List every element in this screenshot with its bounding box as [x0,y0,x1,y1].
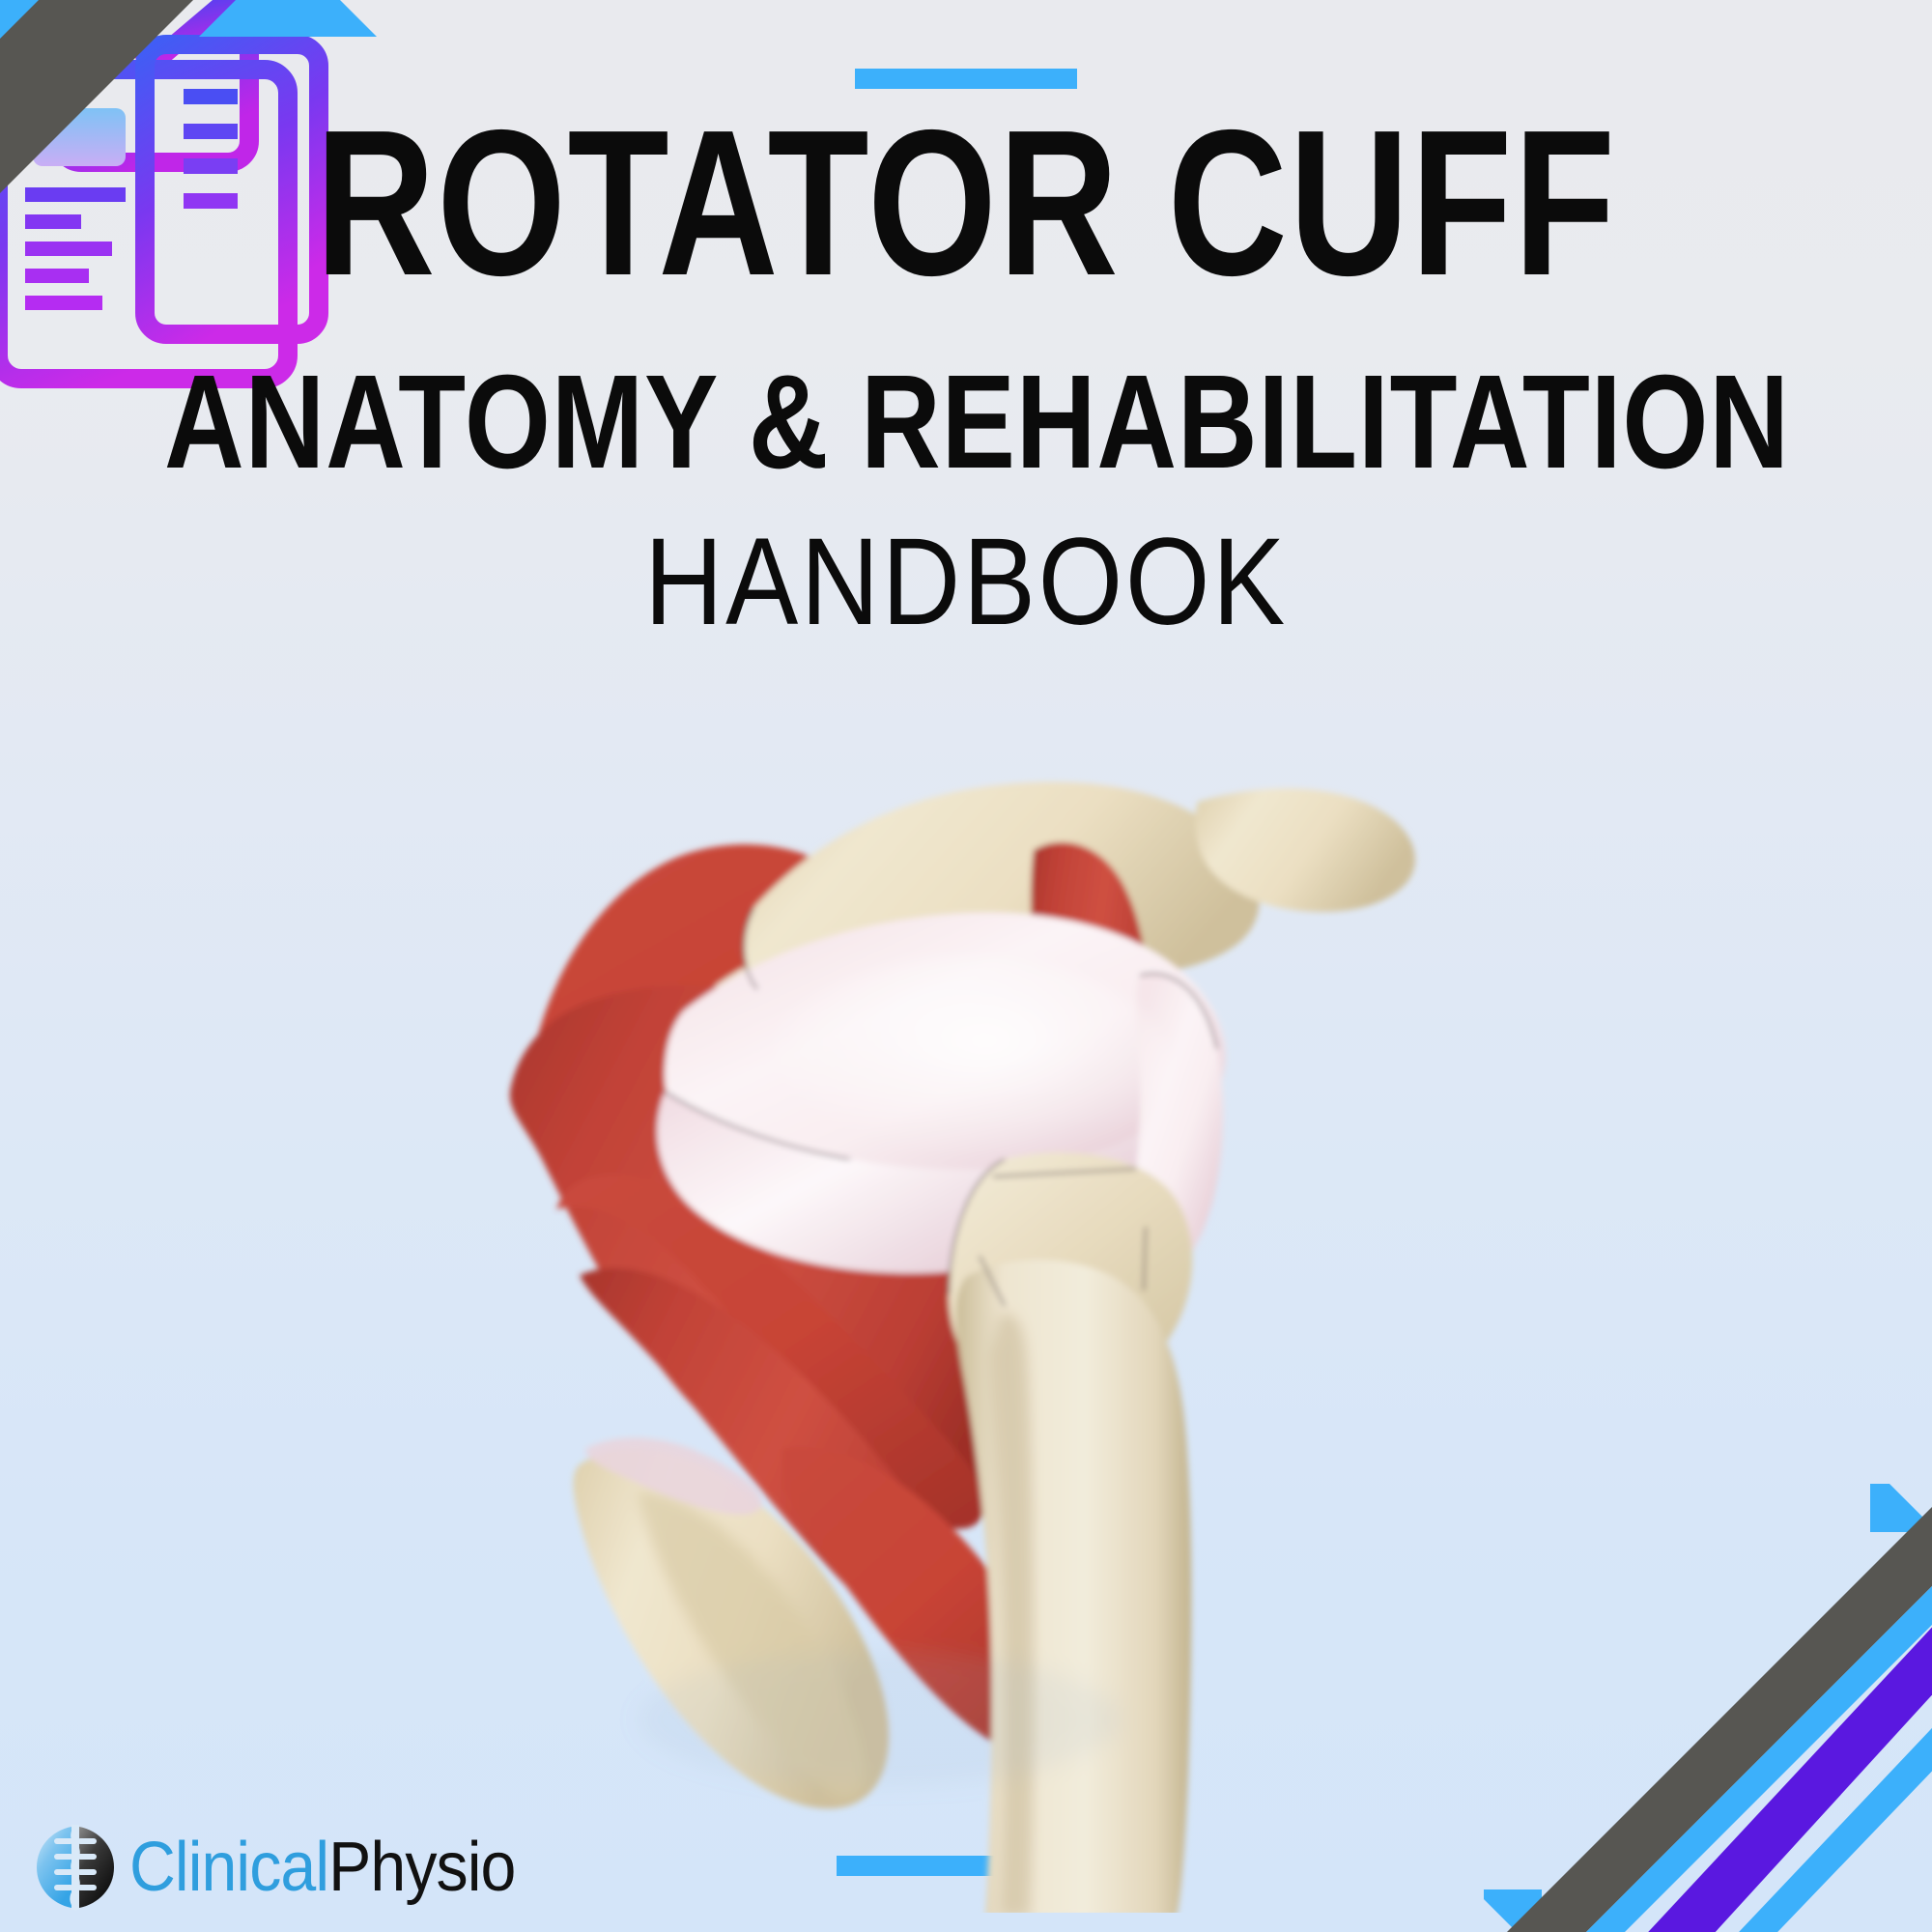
brand-name-secondary: Physio [328,1829,515,1906]
brand-logo[interactable]: ClinicalPhysio [29,1814,549,1920]
tendon-highlight [763,958,1169,1167]
brand-name-primary: Clinical [129,1829,328,1906]
brand-name: ClinicalPhysio [129,1833,515,1902]
page-title: ROTATOR CUFF [193,106,1739,299]
book-cover: ROTATOR CUFF ANATOMY & REHABILITATION HA… [0,0,1932,1932]
shoulder-anatomy-illustration [464,773,1488,1913]
spine-globe-icon [29,1821,122,1914]
title-block: ROTATOR CUFF ANATOMY & REHABILITATION HA… [0,0,1932,645]
page-subtitle: ANATOMY & REHABILITATION [164,350,1768,495]
bottom-right-decoration [1484,1484,1932,1932]
page-tertiary-title: HANDBOOK [116,520,1816,645]
